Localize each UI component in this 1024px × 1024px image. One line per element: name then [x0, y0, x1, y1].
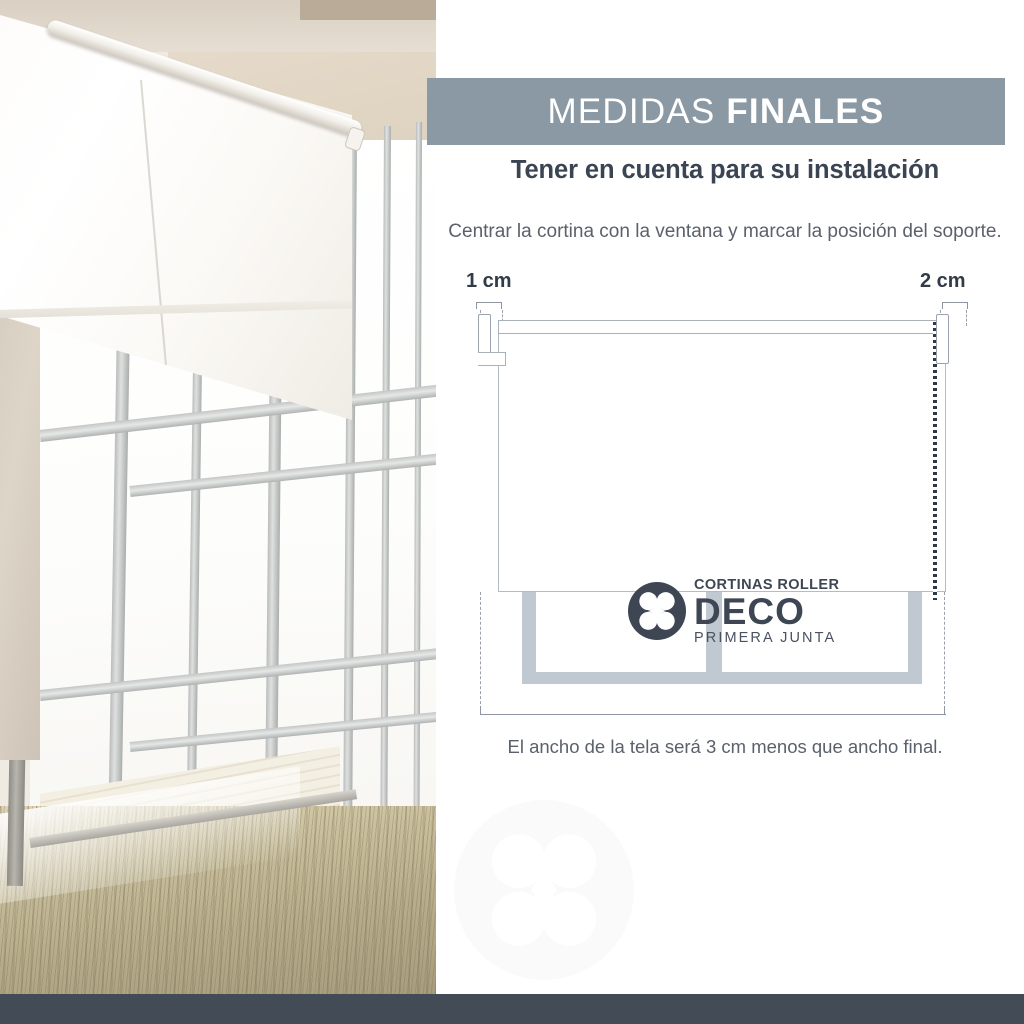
left-clearance-label: 1 cm: [466, 270, 512, 293]
clover-circle-icon: [628, 582, 686, 640]
page-title-light: MEDIDAS: [548, 92, 716, 131]
brand-line-3: PRIMERA JUNTA: [694, 631, 844, 647]
fabric-width-note: El ancho de la tela será 3 cm menos que …: [436, 736, 1014, 758]
title-band: MEDIDAS FINALES: [427, 78, 1005, 145]
guide-line-outer-right: [966, 310, 967, 326]
headrail-tube: [498, 320, 946, 334]
right-clearance-bracket: [942, 302, 968, 310]
brand-line-2: DECO: [694, 594, 844, 630]
infographic-canvas: MEDIDAS FINALES Tener en cuenta para su …: [0, 0, 1024, 1024]
content-panel: MEDIDAS FINALES Tener en cuenta para su …: [436, 0, 1024, 994]
roller-fabric-panel: [498, 320, 946, 592]
installation-diagram: 1 cm 2 cm: [436, 262, 1014, 732]
brand-logo-text: CORTINAS ROLLER DECO PRIMERA JUNTA: [694, 578, 844, 647]
photo-ceiling-beam: [300, 0, 436, 20]
brand-logo: CORTINAS ROLLER DECO PRIMERA JUNTA: [628, 578, 840, 648]
support-bracket-right: [936, 314, 949, 364]
overall-width-dimension-line: [480, 714, 946, 715]
width-tick-left: [480, 706, 481, 715]
left-clearance-bracket: [476, 302, 502, 310]
page-subtitle: Tener en cuenta para su instalación: [436, 156, 1014, 185]
roller-blind-photo: [0, 0, 436, 994]
guide-line-right-drop: [944, 592, 945, 714]
page-title-bold: FINALES: [726, 92, 884, 131]
support-bracket-left-tab: [478, 352, 506, 366]
footer-bar: [0, 994, 1024, 1024]
right-clearance-label: 2 cm: [920, 270, 966, 293]
page-title: MEDIDAS FINALES: [548, 92, 885, 132]
guide-line-left-drop: [480, 592, 481, 714]
lead-instruction: Centrar la cortina con la ventana y marc…: [436, 219, 1014, 244]
width-tick-right: [944, 706, 945, 715]
logo-watermark: [454, 800, 634, 980]
